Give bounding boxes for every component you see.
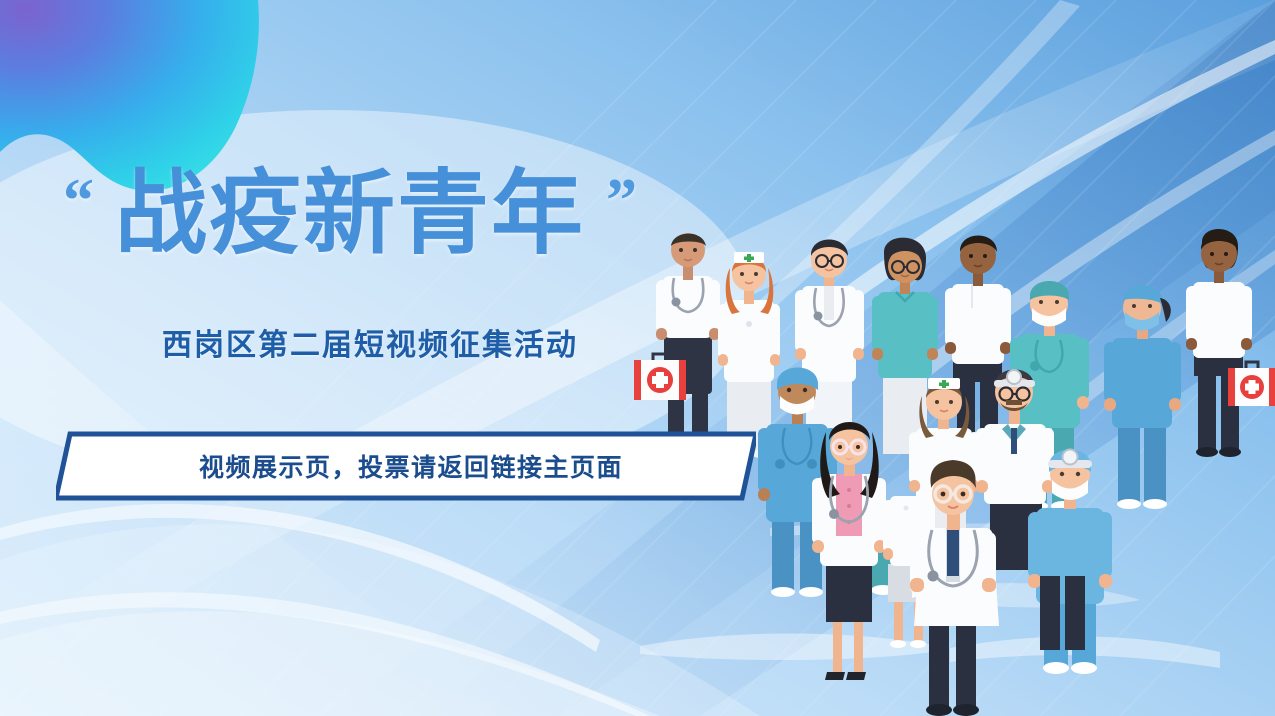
first-aid-kit-right bbox=[1228, 362, 1275, 406]
page-title: “ 战疫新青年 ” bbox=[115, 168, 585, 260]
poster-canvas: “ 战疫新青年 ” 西岗区第二届短视频征集活动 视频展示页，投票请返回链接主页面 bbox=[0, 0, 1275, 716]
figure-blue-scrubs-surgeon-cap bbox=[1104, 285, 1181, 509]
info-banner: 视频展示页，投票请返回链接主页面 bbox=[56, 430, 756, 502]
page-subtitle: 西岗区第二届短视频征集活动 bbox=[0, 320, 740, 364]
figure-male-darkskin-white-shirt bbox=[945, 236, 1011, 458]
title-group: “ 战疫新青年 ” bbox=[0, 168, 700, 260]
banner-label: 视频展示页，投票请返回链接主页面 bbox=[56, 430, 756, 502]
quote-close-mark: ” bbox=[606, 170, 639, 232]
figure-teal-scrubs-glasses bbox=[872, 238, 938, 454]
quote-open-mark: “ bbox=[63, 170, 96, 232]
main-title-text: 战疫新青年 bbox=[115, 163, 585, 265]
